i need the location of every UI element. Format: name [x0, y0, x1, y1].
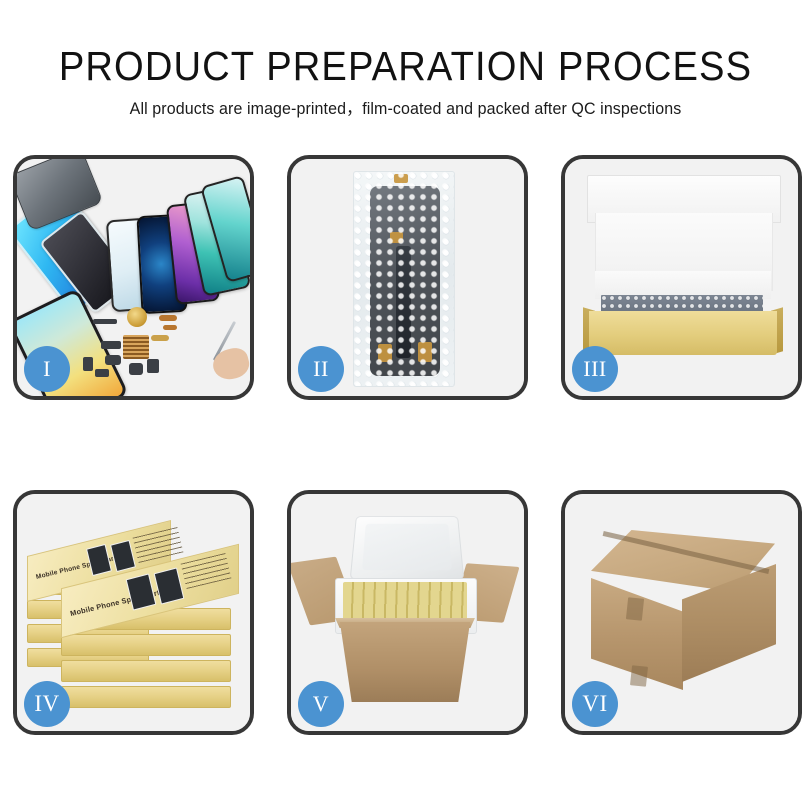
- flex-cable-strip: [396, 246, 411, 358]
- step-badge-iii: III: [572, 346, 618, 392]
- step-badge-i: I: [24, 346, 70, 392]
- adhesive-tab-top: [394, 174, 408, 183]
- header: PRODUCT PREPARATION PROCESS All products…: [0, 42, 811, 120]
- adhesive-tab-mid: [390, 232, 403, 243]
- step-panel-i: I: [13, 155, 254, 400]
- carton-tape-lower: [630, 665, 648, 687]
- foam-lid-open: [350, 516, 465, 579]
- camera-module-part: [105, 355, 121, 365]
- step-badge-vi: VI: [572, 681, 618, 727]
- flex-cable-copper-2: [163, 325, 177, 330]
- step-badge-v: V: [298, 681, 344, 727]
- step-panel-v: V: [287, 490, 528, 735]
- carton-body-open: [331, 622, 479, 702]
- small-bracket-part: [95, 369, 109, 377]
- step-badge-ii: II: [298, 346, 344, 392]
- stacked-box-front-2: [61, 634, 231, 656]
- button-part: [129, 363, 143, 375]
- sim-tray-part: [83, 357, 93, 371]
- speaker-coin-part: [127, 307, 147, 327]
- stacked-box-front-3: [61, 660, 231, 682]
- page-title: PRODUCT PREPARATION PROCESS: [28, 42, 782, 90]
- bubble-wrap-bag: [353, 171, 455, 387]
- step-panel-iv: Mobile Phone Spare Parts Mobile Phone Sp…: [13, 490, 254, 735]
- step-panel-ii: II: [287, 155, 528, 400]
- stacked-box-front-4: [61, 686, 231, 708]
- box-gold-front-panel: [589, 311, 777, 355]
- process-step-grid: I II: [13, 155, 803, 736]
- step-panel-iii: III: [561, 155, 802, 400]
- vibrator-part: [147, 359, 159, 373]
- step-badge-iv: IV: [24, 681, 70, 727]
- connector-part: [101, 341, 121, 349]
- step-panel-vi: VI: [561, 490, 802, 735]
- product-preparation-infographic: PRODUCT PREPARATION PROCESS All products…: [0, 0, 811, 811]
- carton-tape-upper: [626, 597, 644, 621]
- logic-board-pad: [123, 335, 149, 359]
- foam-lid-inner-face: [362, 524, 452, 570]
- gold-contact-strip: [151, 335, 169, 341]
- flex-cable-copper: [159, 315, 177, 321]
- earpiece-mesh-part: [93, 319, 117, 324]
- page-subtitle: All products are image-printed，film-coat…: [12, 98, 799, 120]
- connector-tab-right: [418, 342, 432, 362]
- connector-tab-left: [378, 344, 392, 362]
